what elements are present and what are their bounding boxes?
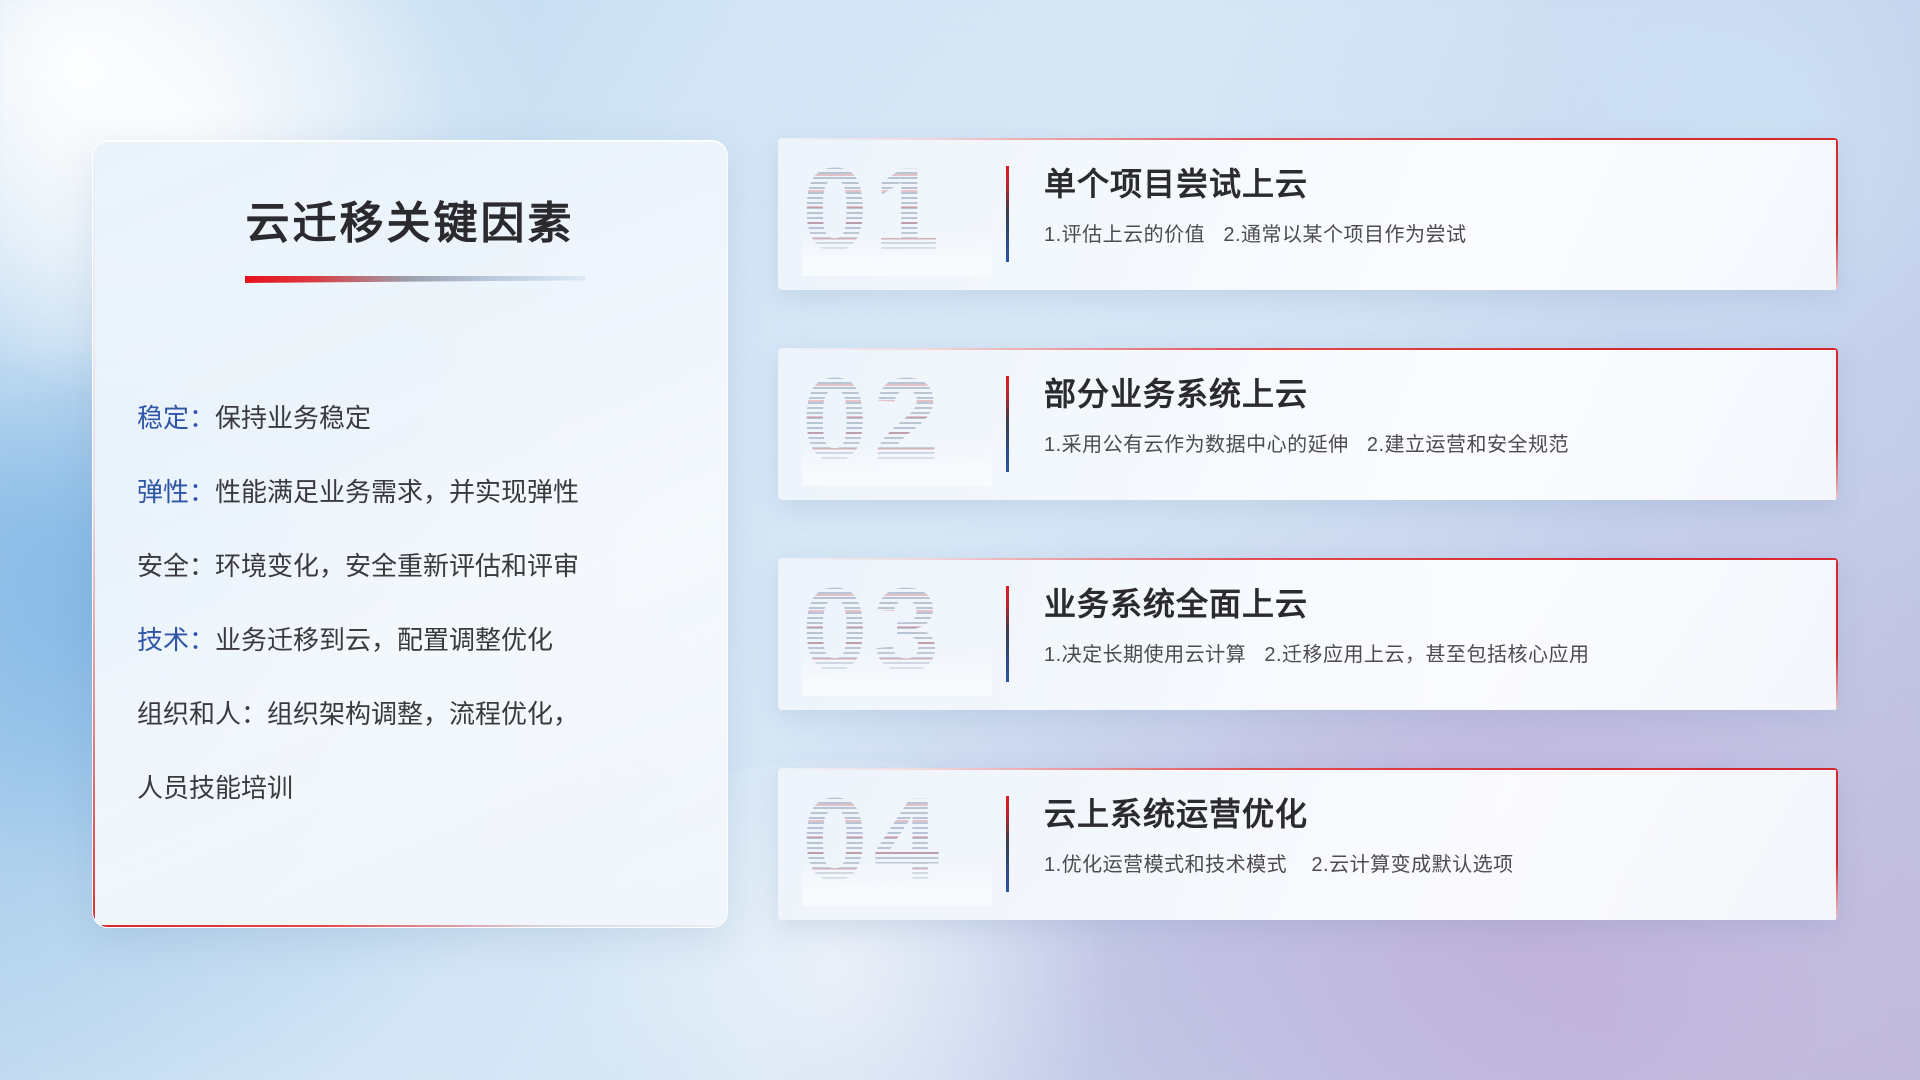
page-title: 云迁移关键因素	[93, 187, 727, 251]
factor-value: 业务迁移到云，配置调整优化	[215, 625, 553, 655]
card-text-block: 业务系统全面上云 1.决定长期使用云计算 2.迁移应用上云，甚至包括核心应用	[1044, 580, 1798, 670]
card-description: 1.采用公有云作为数据中心的延伸 2.建立运营和安全规范	[1044, 430, 1798, 460]
factor-value-continuation: 人员技能培训	[137, 751, 691, 825]
stage-card[interactable]: 03 03 业务系统全面上云 1.决定长期使用云计算 2.迁移应用上云，甚至包括…	[778, 558, 1838, 710]
stage-card[interactable]: 01 01 单个项目尝试上云 1.评估上云的价值 2.通常以某个项目作为尝试	[778, 138, 1838, 290]
stage-number-watermark: 04 04	[802, 782, 992, 906]
watermark-fade	[802, 860, 992, 906]
factor-label: 稳定：	[137, 403, 215, 433]
factor-value: 环境变化，安全重新评估和评审	[215, 551, 579, 581]
card-title: 单个项目尝试上云	[1044, 160, 1798, 208]
stage-card[interactable]: 02 02 部分业务系统上云 1.采用公有云作为数据中心的延伸 2.建立运营和安…	[778, 348, 1838, 500]
card-title: 业务系统全面上云	[1044, 580, 1798, 628]
list-item: 组织和人：组织架构调整，流程优化，	[137, 677, 691, 751]
card-title: 云上系统运营优化	[1044, 790, 1798, 838]
stage-card[interactable]: 04 04 云上系统运营优化 1.优化运营模式和技术模式 2.云计算变成默认选项	[778, 768, 1838, 920]
factor-list: 稳定：保持业务稳定 弹性：性能满足业务需求，并实现弹性 安全：环境变化，安全重新…	[137, 381, 691, 825]
stage-number-watermark: 03 03	[802, 572, 992, 696]
list-item: 技术：业务迁移到云，配置调整优化	[137, 603, 691, 677]
factor-value: 性能满足业务需求，并实现弹性	[215, 477, 579, 507]
factor-label: 弹性：	[137, 477, 215, 507]
card-description: 1.评估上云的价值 2.通常以某个项目作为尝试	[1044, 220, 1798, 250]
migration-stage-cards: 01 01 单个项目尝试上云 1.评估上云的价值 2.通常以某个项目作为尝试 0…	[778, 138, 1838, 978]
watermark-fade	[802, 440, 992, 486]
slide-stage: 云迁移关键因素 稳定：保持业务稳定 弹性：性能满足业务需求，并实现弹性 安全：环…	[0, 0, 1920, 1080]
factor-label: 组织和人：	[137, 699, 267, 729]
card-text-block: 云上系统运营优化 1.优化运营模式和技术模式 2.云计算变成默认选项	[1044, 790, 1798, 880]
list-item: 安全：环境变化，安全重新评估和评审	[137, 529, 691, 603]
list-item: 稳定：保持业务稳定	[137, 381, 691, 455]
card-description: 1.决定长期使用云计算 2.迁移应用上云，甚至包括核心应用	[1044, 640, 1798, 670]
watermark-fade	[802, 650, 992, 696]
card-divider-bar	[1006, 376, 1009, 472]
watermark-fade	[802, 230, 992, 276]
list-item: 弹性：性能满足业务需求，并实现弹性	[137, 455, 691, 529]
stage-number-watermark: 01 01	[802, 152, 992, 276]
stage-number-watermark: 02 02	[802, 362, 992, 486]
card-text-block: 单个项目尝试上云 1.评估上云的价值 2.通常以某个项目作为尝试	[1044, 160, 1798, 250]
factor-value: 组织架构调整，流程优化，	[267, 699, 579, 729]
card-description: 1.优化运营模式和技术模式 2.云计算变成默认选项	[1044, 850, 1798, 880]
card-divider-bar	[1006, 796, 1009, 892]
card-title: 部分业务系统上云	[1044, 370, 1798, 418]
card-text-block: 部分业务系统上云 1.采用公有云作为数据中心的延伸 2.建立运营和安全规范	[1044, 370, 1798, 460]
factor-value: 保持业务稳定	[215, 403, 371, 433]
key-factors-panel: 云迁移关键因素 稳定：保持业务稳定 弹性：性能满足业务需求，并实现弹性 安全：环…	[92, 140, 728, 928]
card-divider-bar	[1006, 586, 1009, 682]
factor-label: 安全：	[137, 551, 215, 581]
title-underline-rule	[245, 276, 585, 283]
card-divider-bar	[1006, 166, 1009, 262]
factor-label: 技术：	[137, 625, 215, 655]
